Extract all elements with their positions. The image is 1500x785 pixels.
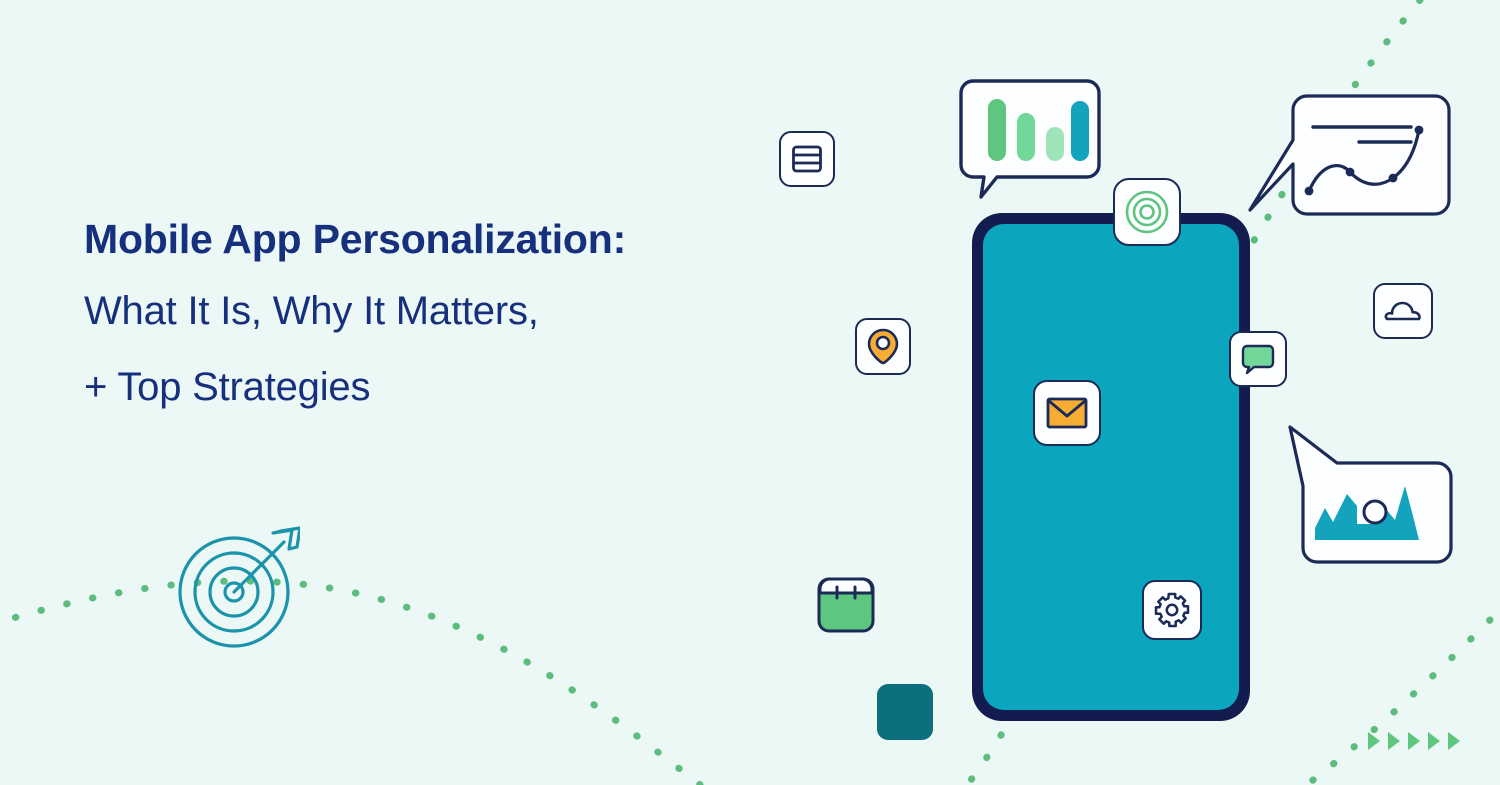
- area-chart-bubble: [1287, 424, 1455, 579]
- target-arrow-icon: [176, 526, 300, 655]
- page-title: Mobile App Personalization: What It Is, …: [84, 205, 784, 425]
- gear-icon[interactable]: [1142, 580, 1202, 640]
- play-arrow-3: [1406, 730, 1422, 752]
- play-arrows-icon: [1366, 730, 1462, 752]
- bar-chart-bubble: [959, 79, 1109, 204]
- play-arrow-1: [1366, 730, 1382, 752]
- cloud-icon[interactable]: [1373, 283, 1433, 339]
- play-arrow-2: [1386, 730, 1402, 752]
- line-chart-bubble: [1247, 92, 1452, 227]
- play-arrow-4: [1426, 730, 1442, 752]
- headline-line-2: What It Is, Why It Matters,: [84, 273, 784, 349]
- list-icon[interactable]: [779, 131, 835, 187]
- headline-line-1: Mobile App Personalization:: [84, 205, 784, 273]
- chat-bubble-icon[interactable]: [1229, 331, 1287, 387]
- hero-illustration: Mobile App Personalization: What It Is, …: [0, 0, 1500, 785]
- mail-envelope-icon[interactable]: [1033, 380, 1101, 446]
- location-pin-icon[interactable]: [855, 318, 911, 375]
- radar-target-icon[interactable]: [1113, 178, 1181, 246]
- play-arrow-5: [1446, 730, 1462, 752]
- headline-line-3: + Top Strategies: [84, 349, 784, 425]
- mobile-phone-mockup: [972, 213, 1250, 721]
- calendar-icon[interactable]: [817, 577, 875, 633]
- phone-screen: [983, 224, 1239, 710]
- teal-square-shape: [877, 684, 933, 740]
